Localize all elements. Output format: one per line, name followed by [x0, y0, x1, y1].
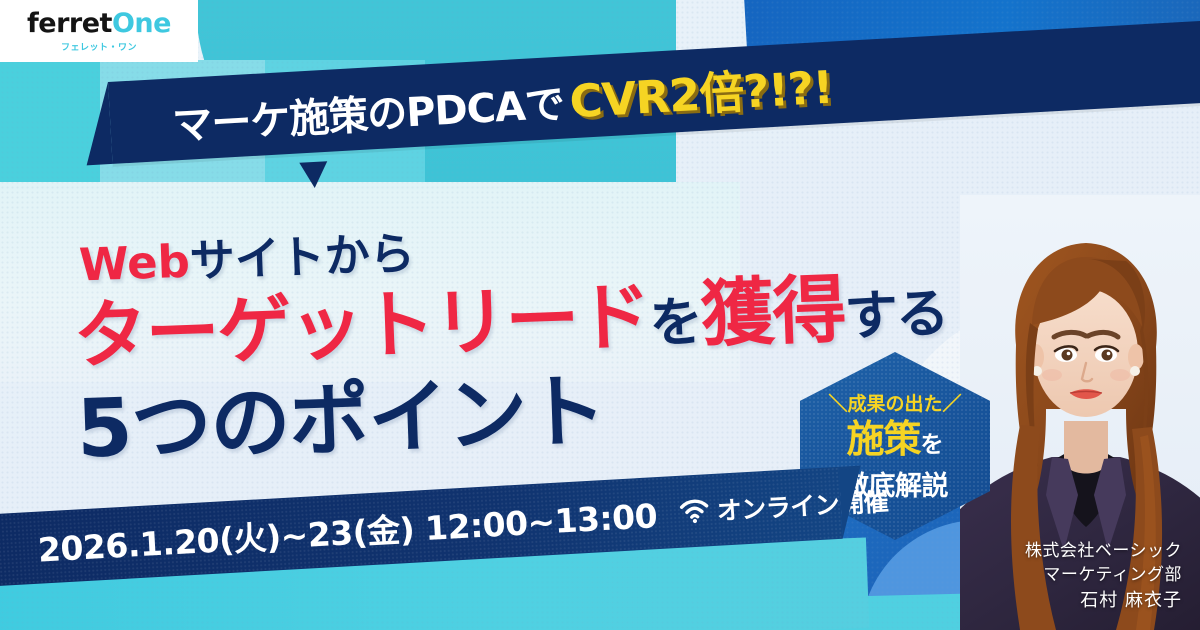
badge-mid-highlight: 施策	[846, 417, 920, 461]
headline-ribbon-tail	[299, 161, 328, 189]
title-line2-part3: 獲得	[699, 267, 846, 358]
speaker-name: 石村 麻衣子	[1025, 588, 1182, 614]
logo-brand-accent: One	[112, 8, 171, 39]
webinar-banner: ferretOne フェレット・ワン マーケ施策のPDCAでCVR2倍?!?! …	[0, 0, 1200, 630]
title-line1-part1: Web	[78, 235, 191, 292]
title-line1-part2: サイトから	[189, 227, 416, 288]
schedule-format-label: オンライン開催	[716, 482, 889, 528]
title-line2-part1: ターゲットリード	[72, 274, 651, 380]
logo-brand-primary: ferret	[27, 8, 112, 39]
logo-subtitle: フェレット・ワン	[61, 40, 137, 53]
wifi-icon	[678, 497, 710, 525]
badge-top-label: ＼成果の出た／	[828, 389, 961, 416]
speaker-department: マーケティング部	[1025, 563, 1182, 588]
badge-mid-particle: を	[921, 432, 944, 458]
logo: ferretOne フェレット・ワン	[0, 0, 198, 62]
wifi-icon-glyph	[678, 497, 710, 525]
headline-white-text: マーケ施策のPDCAで	[171, 81, 565, 149]
logo-wordmark: ferretOne	[27, 10, 171, 37]
headline-yellow-text: CVR2倍?!?!	[568, 60, 834, 128]
badge-mid-label: 施策を	[846, 420, 943, 458]
speaker-info: 株式会社ベーシック マーケティング部 石村 麻衣子	[1025, 539, 1182, 614]
title-line2-part2: を	[648, 291, 701, 355]
speaker-company: 株式会社ベーシック	[1025, 539, 1182, 564]
title-line2-part4: する	[844, 282, 949, 348]
